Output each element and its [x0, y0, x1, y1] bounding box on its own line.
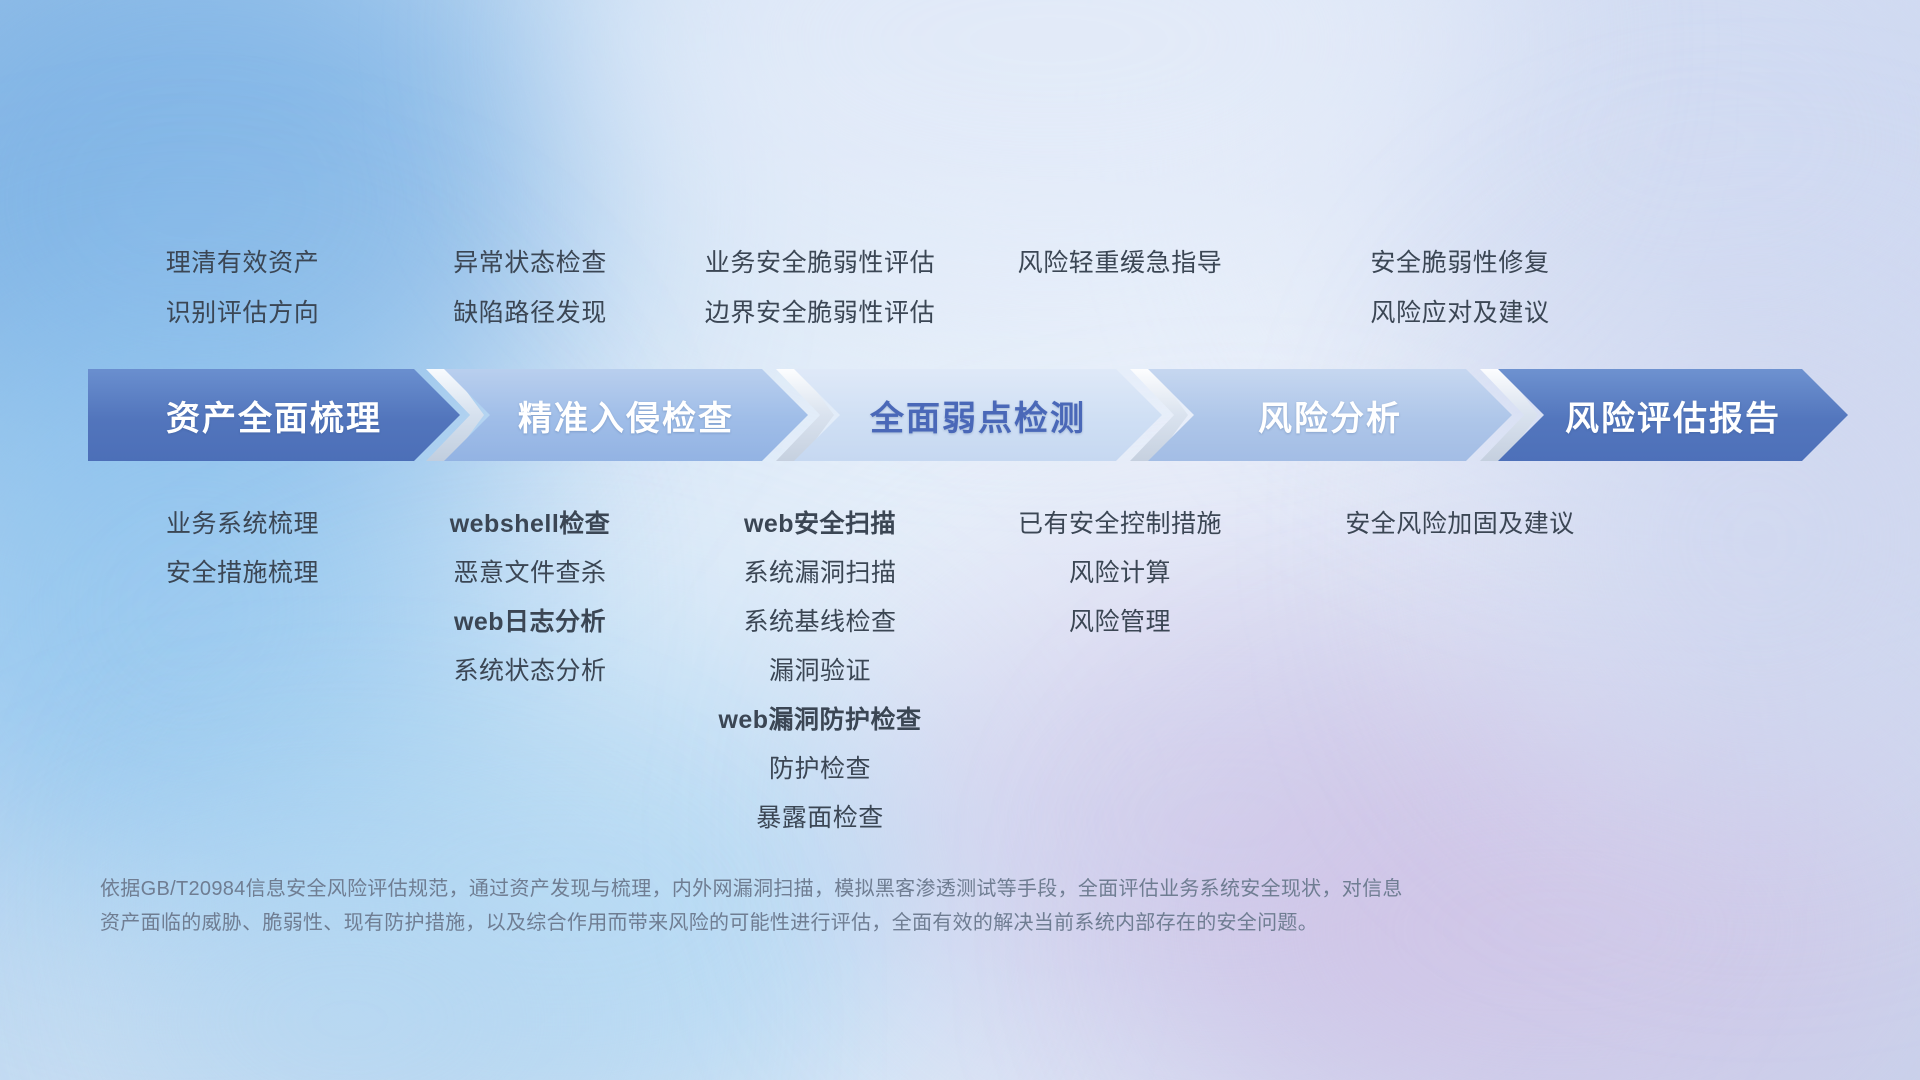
stage-label: 全面弱点检测	[794, 391, 1162, 440]
top-item: 异常状态检查	[360, 238, 700, 288]
top-item: 风险应对及建议	[1250, 288, 1670, 338]
bottom-item: 暴露面检查	[650, 794, 990, 843]
top-item-list: 异常状态检查 缺陷路径发现	[360, 238, 700, 338]
stage-arrow-5[interactable]: 风险评估报告	[1498, 369, 1848, 461]
stage-arrow-4[interactable]: 风险分析	[1148, 369, 1512, 461]
bottom-item: 风险计算	[950, 549, 1290, 598]
bottom-item: 防护检查	[650, 745, 990, 794]
stage-arrow-3[interactable]: 全面弱点检测	[794, 369, 1162, 461]
bottom-item: 恶意文件查杀	[360, 549, 700, 598]
bottom-item: web安全扫描	[650, 500, 990, 549]
top-item: 安全脆弱性修复	[1250, 238, 1670, 288]
bottom-item-list: webshell检查 恶意文件查杀 web日志分析 系统状态分析	[360, 500, 700, 696]
bottom-item: 风险管理	[950, 598, 1290, 647]
bottom-item: 系统基线检查	[650, 598, 990, 647]
process-flow-diagram: 理清有效资产 识别评估方向 业务系统梳理 安全措施梳理 异常状态检查 缺陷路径发…	[0, 0, 1920, 1080]
stage-label: 风险分析	[1148, 391, 1512, 440]
top-item: 风险轻重缓急指导	[950, 238, 1290, 288]
top-item: 边界安全脆弱性评估	[650, 288, 990, 338]
stage-label: 资产全面梳理	[88, 391, 460, 440]
stage-arrow-1[interactable]: 资产全面梳理	[88, 369, 460, 461]
bottom-item: webshell检查	[360, 500, 700, 549]
footer-description: 依据GB/T20984信息安全风险评估规范，通过资产发现与梳理，内外网漏洞扫描，…	[100, 872, 1660, 940]
bottom-item: 系统状态分析	[360, 647, 700, 696]
bottom-item-list: 安全风险加固及建议	[1250, 500, 1670, 549]
top-item-list: 业务安全脆弱性评估 边界安全脆弱性评估	[650, 238, 990, 338]
top-item: 业务安全脆弱性评估	[650, 238, 990, 288]
bottom-item: web漏洞防护检查	[650, 696, 990, 745]
footer-line-2: 资产面临的威胁、脆弱性、现有防护措施，以及综合作用而带来风险的可能性进行评估，全…	[100, 906, 1660, 940]
stage-label: 风险评估报告	[1498, 391, 1848, 440]
bottom-item-list: web安全扫描 系统漏洞扫描 系统基线检查 漏洞验证 web漏洞防护检查 防护检…	[650, 500, 990, 843]
stage-label: 精准入侵检查	[444, 391, 808, 440]
top-item-list: 安全脆弱性修复 风险应对及建议	[1250, 238, 1670, 338]
bottom-item-list: 已有安全控制措施 风险计算 风险管理	[950, 500, 1290, 647]
bottom-item: 漏洞验证	[650, 647, 990, 696]
stage-arrow-2[interactable]: 精准入侵检查	[444, 369, 808, 461]
top-item-list: 风险轻重缓急指导	[950, 238, 1290, 288]
bottom-item: 安全风险加固及建议	[1250, 500, 1670, 549]
bottom-item: web日志分析	[360, 598, 700, 647]
top-item: 缺陷路径发现	[360, 288, 700, 338]
bottom-item: 系统漏洞扫描	[650, 549, 990, 598]
bottom-item: 已有安全控制措施	[950, 500, 1290, 549]
stage-arrow-band: 资产全面梳理 精准入侵检查 全面弱点检测 风险分析 风险评估报告	[88, 369, 1848, 461]
footer-line-1: 依据GB/T20984信息安全风险评估规范，通过资产发现与梳理，内外网漏洞扫描，…	[100, 872, 1660, 906]
